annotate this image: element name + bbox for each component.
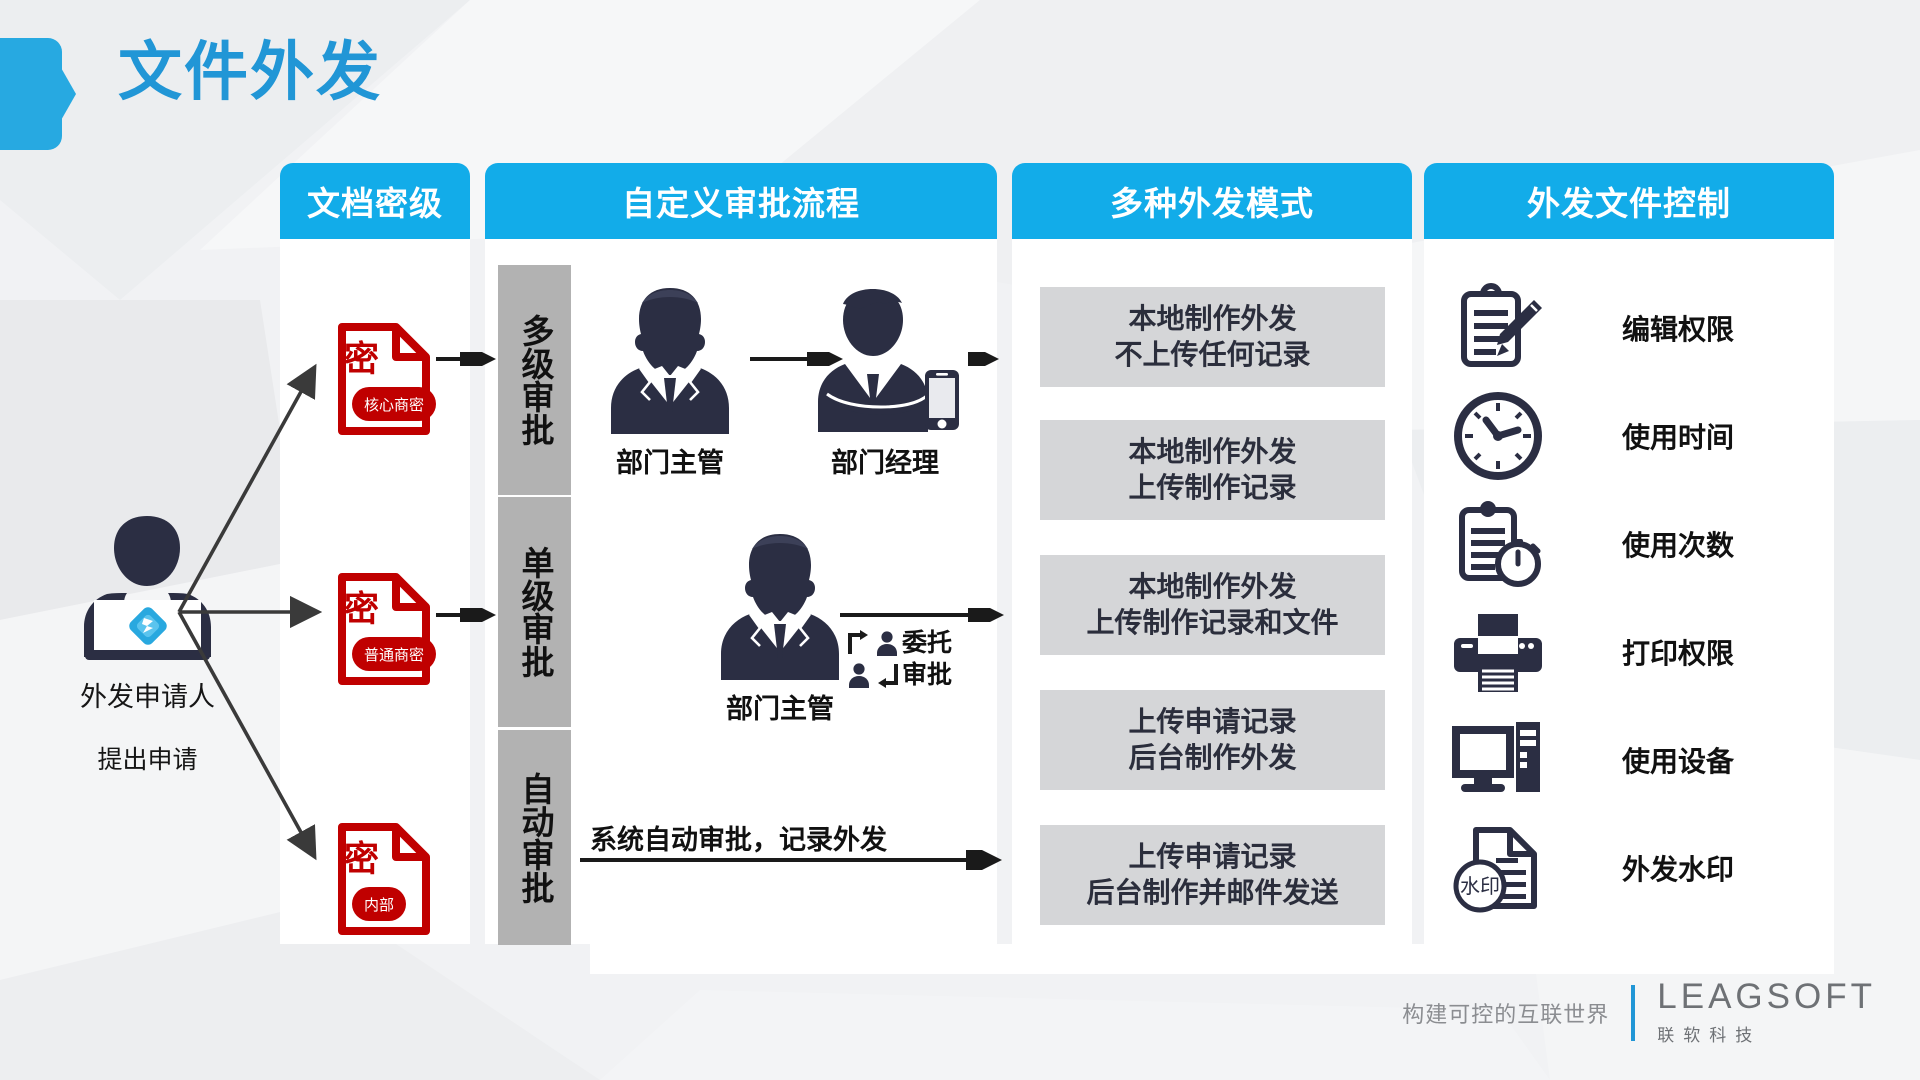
delegate-arrow-up-icon xyxy=(846,630,872,656)
delivery-mode-1: 本地制作外发 不上传任何记录 xyxy=(1040,287,1385,387)
delegation-label-bottom: 审批 xyxy=(902,662,952,688)
clipboard-pencil-icon xyxy=(1452,282,1544,374)
brand-name-en: LEAGSOFT xyxy=(1657,979,1876,1014)
clock-icon xyxy=(1452,390,1544,482)
file-control-edit-permission: 编辑权限 xyxy=(1452,278,1822,378)
delegation-block: 委托 审批 xyxy=(846,630,952,689)
arrow-out-row2 xyxy=(840,608,1005,622)
approver-dept-manager-row1: 部门经理 xyxy=(805,282,965,480)
footer-slogan: 构建可控的互联世界 xyxy=(1402,997,1609,1029)
column-header-label: 文档密级 xyxy=(307,177,443,225)
approval-type-label: 单级审批 xyxy=(516,546,553,678)
arrow-out-row1 xyxy=(968,352,1000,366)
file-control-label: 使用设备 xyxy=(1622,740,1734,780)
businessman-icon xyxy=(710,528,850,680)
column-header-label: 多种外发模式 xyxy=(1110,177,1314,225)
clipboard-stopwatch-icon xyxy=(1452,498,1544,590)
delegate-person-icon xyxy=(874,630,900,656)
page-title: 文件外发 xyxy=(118,40,382,104)
delivery-mode-line2: 后台制作并邮件发送 xyxy=(1086,875,1338,911)
file-control-label: 打印权限 xyxy=(1622,632,1734,672)
delivery-mode-line1: 上传申请记录 xyxy=(1128,704,1296,740)
column-header-delivery-modes: 多种外发模式 xyxy=(1012,163,1412,239)
secrecy-badge: 核心商密 xyxy=(352,387,436,421)
brand-name-cn: 联软科技 xyxy=(1657,1021,1876,1046)
delegate-person-icon xyxy=(846,662,872,688)
delivery-mode-line2: 不上传任何记录 xyxy=(1114,337,1310,373)
footer-divider xyxy=(1631,985,1635,1041)
delivery-mode-3: 本地制作外发 上传制作记录和文件 xyxy=(1040,555,1385,655)
delivery-mode-line2: 后台制作外发 xyxy=(1128,740,1296,776)
approver-name: 部门经理 xyxy=(805,441,965,480)
column-header-label: 外发文件控制 xyxy=(1527,177,1731,225)
approver-dept-supervisor-row1: 部门主管 xyxy=(600,282,740,480)
delegation-row-top: 委托 xyxy=(846,630,952,656)
delivery-mode-line1: 本地制作外发 xyxy=(1128,434,1296,470)
secrecy-mark: 密 xyxy=(344,592,379,627)
fanout-arrows xyxy=(175,330,335,890)
secrecy-badge: 普通商密 xyxy=(352,637,436,671)
secrecy-file-internal: 密 内部 xyxy=(330,820,438,938)
watermark-stamp-text: 水印 xyxy=(1460,875,1500,898)
delegate-arrow-down-icon xyxy=(874,662,900,688)
delivery-mode-2: 本地制作外发 上传制作记录 xyxy=(1040,420,1385,520)
delivery-mode-line1: 上传申请记录 xyxy=(1128,839,1296,875)
column-header-label: 自定义审批流程 xyxy=(622,177,860,225)
delegation-row-bottom: 审批 xyxy=(846,662,952,688)
arrow-file-to-supervisor-row1 xyxy=(436,352,498,366)
column-header-approval-flow: 自定义审批流程 xyxy=(485,163,997,239)
secrecy-mark: 密 xyxy=(344,842,379,877)
delivery-mode-line1: 本地制作外发 xyxy=(1128,301,1296,337)
delivery-mode-line2: 上传制作记录和文件 xyxy=(1086,605,1338,641)
secrecy-mark: 密 xyxy=(344,342,379,377)
approval-type-label: 自动审批 xyxy=(516,772,553,904)
approver-name: 部门主管 xyxy=(710,687,850,726)
file-control-watermark: 水印 外发水印 xyxy=(1452,818,1822,918)
document-watermark-icon: 水印 xyxy=(1452,822,1544,914)
delivery-mode-line2: 上传制作记录 xyxy=(1128,470,1296,506)
file-control-label: 编辑权限 xyxy=(1622,308,1734,348)
approver-dept-supervisor-row2: 部门主管 xyxy=(710,528,850,726)
footer-branding: 构建可控的互联世界 LEAGSOFT 联软科技 xyxy=(1402,979,1876,1046)
column-header-document-secrecy: 文档密级 xyxy=(280,163,470,239)
panel-bottom-strip xyxy=(590,944,1834,974)
delivery-mode-5: 上传申请记录 后台制作并邮件发送 xyxy=(1040,825,1385,925)
file-control-usage-device: 使用设备 xyxy=(1452,710,1822,810)
file-control-label: 外发水印 xyxy=(1622,848,1734,888)
secrecy-badge: 内部 xyxy=(352,887,406,921)
approval-type-label: 多级审批 xyxy=(516,314,553,446)
file-control-usage-count: 使用次数 xyxy=(1452,494,1822,594)
desktop-computer-icon xyxy=(1452,714,1544,806)
file-control-label: 使用次数 xyxy=(1622,524,1734,564)
left-accent-tab xyxy=(0,38,62,150)
businessman-icon xyxy=(600,282,740,434)
file-control-usage-time: 使用时间 xyxy=(1452,386,1822,486)
secrecy-file-core: 密 核心商密 xyxy=(330,320,438,438)
brand-logo: LEAGSOFT 联软科技 xyxy=(1657,979,1876,1046)
printer-icon xyxy=(1452,606,1544,698)
delivery-mode-4: 上传申请记录 后台制作外发 xyxy=(1040,690,1385,790)
delivery-mode-line1: 本地制作外发 xyxy=(1128,569,1296,605)
column-header-file-control: 外发文件控制 xyxy=(1424,163,1834,239)
delegation-label-top: 委托 xyxy=(902,630,952,656)
secrecy-file-normal: 密 普通商密 xyxy=(330,570,438,688)
businessman-with-phone-icon xyxy=(805,282,965,434)
arrow-file-to-supervisor-row2 xyxy=(436,608,498,622)
approval-type-multi-level: 多级审批 xyxy=(498,265,571,495)
approver-name: 部门主管 xyxy=(600,441,740,480)
file-control-print-permission: 打印权限 xyxy=(1452,602,1822,702)
file-control-label: 使用时间 xyxy=(1622,416,1734,456)
approval-type-single-level: 单级审批 xyxy=(498,497,571,727)
arrow-auto-approval xyxy=(580,850,1005,870)
approval-type-automatic: 自动审批 xyxy=(498,730,571,945)
